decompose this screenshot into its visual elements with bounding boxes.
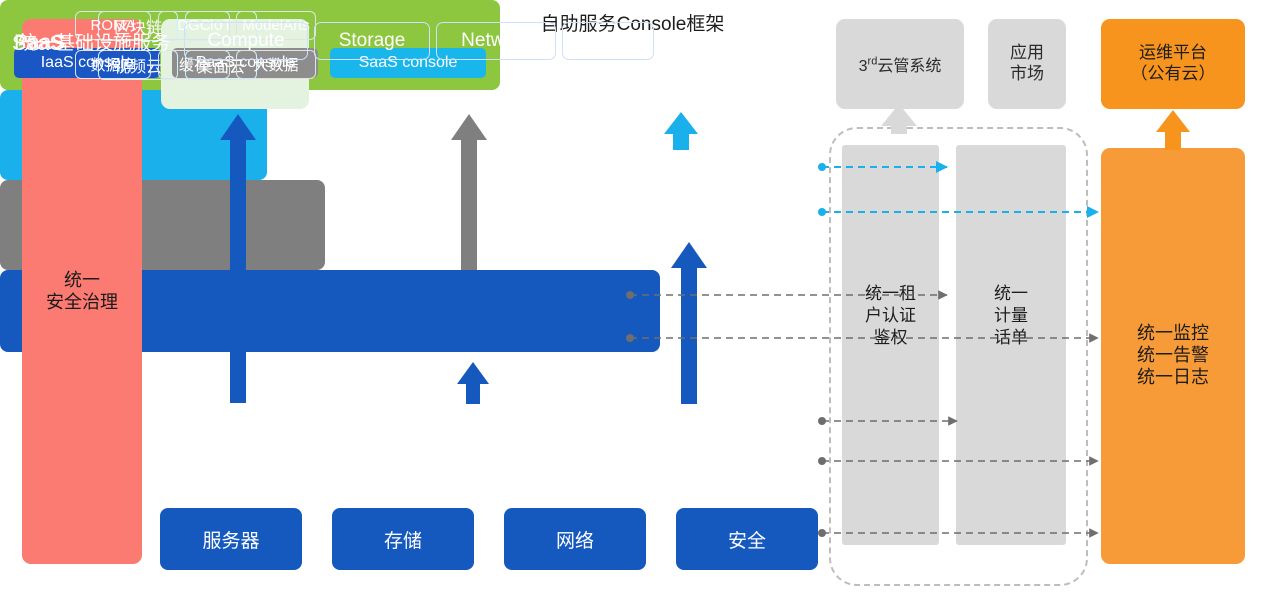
unified-monitoring-column: 统一监控 统一告警 统一日志: [1101, 148, 1245, 564]
unified-security-governance-panel: 统一 安全治理: [22, 19, 142, 564]
ops-platform-public-cloud-label: 运维平台 （公有云）: [1131, 43, 1216, 84]
unified-metering-label: 统一 计量 话单: [956, 283, 1066, 348]
third-party-label: 3rd云管系统: [859, 52, 942, 76]
arrow-infra-to-saas: [671, 242, 707, 404]
arrow-paas-to-console: [451, 114, 487, 270]
infra-chip-compute[interactable]: Compute: [184, 22, 308, 60]
ops-platform-public-cloud-box: 运维平台 （公有云）: [1101, 19, 1245, 109]
resource-label-network: 网络: [556, 526, 594, 553]
architecture-diagram: 统一 安全治理 API网关 自助服务Console框架 IaaS console…: [0, 0, 1265, 605]
unified-security-governance-label: 统一 安全治理: [46, 270, 118, 314]
resource-box-storage: 存储: [332, 508, 474, 570]
infra-chip-network[interactable]: Network: [436, 22, 556, 60]
app-market-label: 应用 市场: [1010, 43, 1044, 84]
third-party-cloud-management-box: 3rd云管系统: [836, 19, 964, 109]
resource-box-server: 服务器: [160, 508, 302, 570]
resource-box-network: 网络: [504, 508, 646, 570]
unified-infrastructure-name: 统一基础设施服务: [18, 28, 170, 55]
resource-label-server: 服务器: [202, 526, 259, 553]
resource-box-security: 安全: [676, 508, 818, 570]
resource-label-storage: 存储: [384, 526, 422, 553]
arrow-infra-to-paas: [457, 362, 489, 404]
arrow-ops-column-to-ops-platform: [1156, 110, 1190, 150]
unified-tenant-auth-label: 统一租 户认证 鉴权: [842, 283, 939, 348]
infra-chip-storage[interactable]: Storage: [314, 22, 430, 60]
arrow-saas-to-console: [664, 112, 698, 150]
unified-monitoring-label: 统一监控 统一告警 统一日志: [1137, 323, 1209, 389]
resource-label-security: 安全: [728, 526, 766, 553]
app-market-box: 应用 市场: [988, 19, 1066, 109]
infra-chip-cce[interactable]: CCE: [562, 22, 654, 60]
